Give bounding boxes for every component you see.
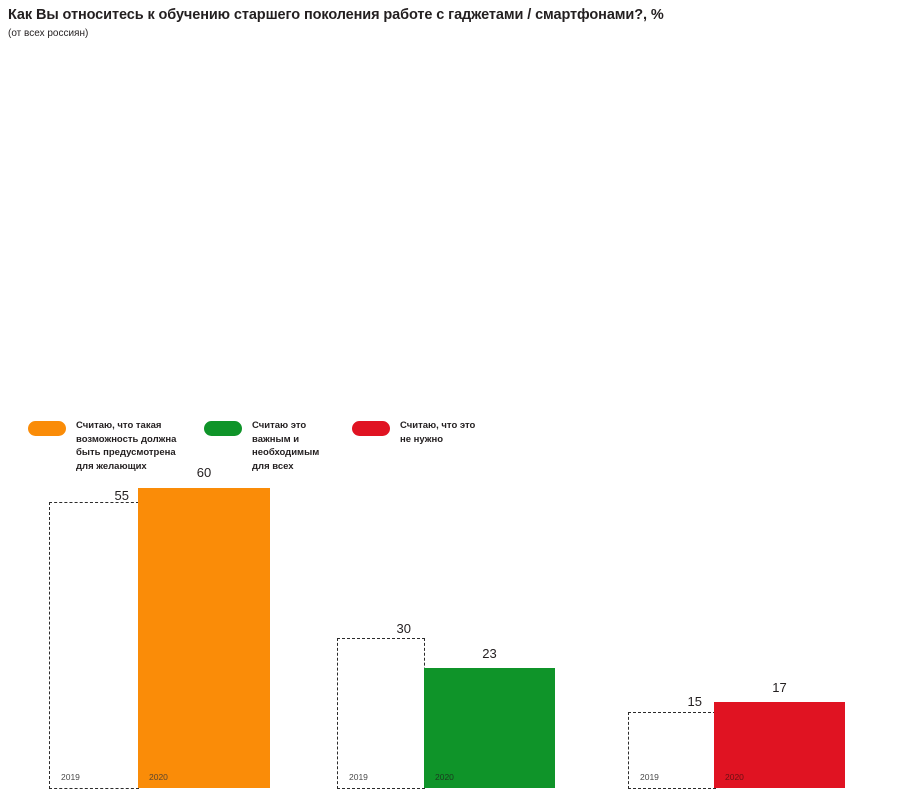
bar-value-2019-group-2: 30 [351,621,411,636]
bar-value-2020-group-3: 17 [714,680,845,695]
legend-swatch-orange-icon [28,421,66,436]
bar-year-label-2019-group-1: 2019 [61,772,80,782]
bar-year-label-2020-group-3: 2020 [725,772,744,782]
bar-2019-group-2[interactable] [337,638,425,789]
legend-swatch-red-icon [352,421,390,436]
bar-value-2020-group-2: 23 [424,646,555,661]
chart-plot-area: 55 2019 60 2020 30 2019 23 2020 15 2019 … [0,0,900,400]
bar-year-label-2020-group-1: 2020 [149,772,168,782]
legend-swatch-green-icon [204,421,242,436]
bar-value-2020-group-1: 60 [138,465,270,480]
bar-value-2019-group-3: 15 [642,694,702,709]
bar-year-label-2019-group-2: 2019 [349,772,368,782]
legend-label-3: Считаю, что это не нужно [400,419,475,446]
bar-2020-group-1[interactable] [138,488,270,788]
bar-year-label-2019-group-3: 2019 [640,772,659,782]
bar-2019-group-1[interactable] [49,502,139,789]
legend-item-3[interactable]: Считаю, что это не нужно [352,419,532,446]
bar-2020-group-2[interactable] [424,668,555,788]
bar-year-label-2020-group-2: 2020 [435,772,454,782]
bar-value-2019-group-1: 55 [69,488,129,503]
